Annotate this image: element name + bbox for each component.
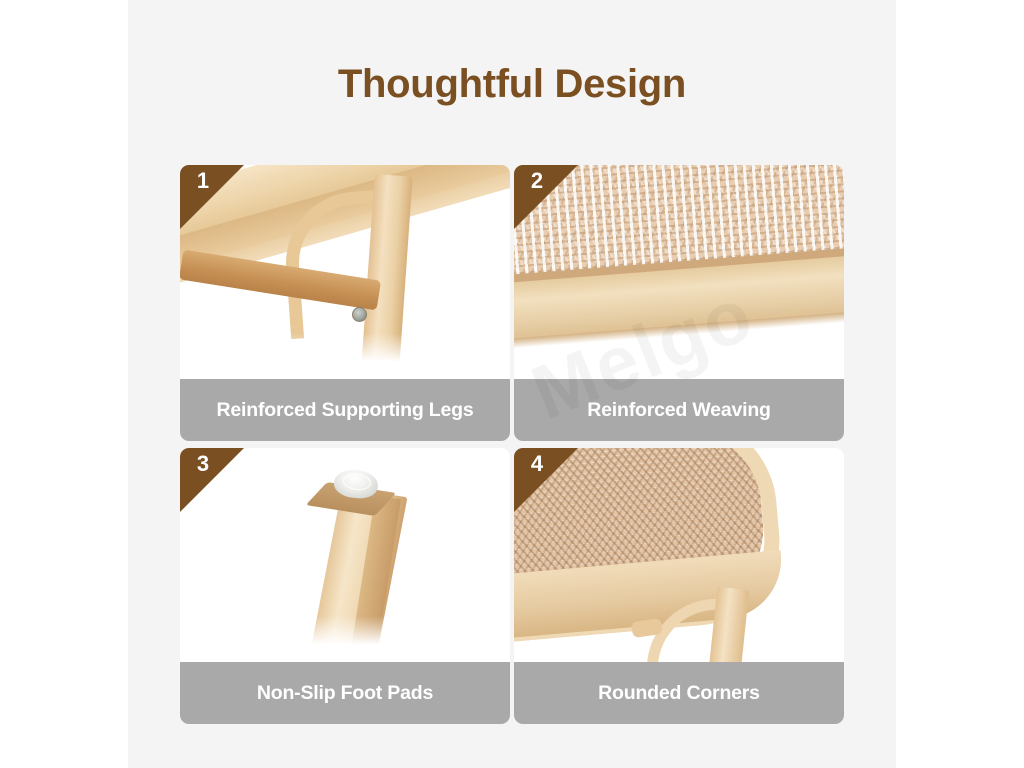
card-caption-text-2: Reinforced Weaving [587, 399, 771, 422]
card-number-label-4: 4 [524, 451, 550, 477]
feature-card-4[interactable]: 4 Rounded Corners [514, 448, 844, 724]
card-caption-bar-1: Reinforced Supporting Legs [180, 379, 510, 441]
screw-icon [352, 307, 367, 322]
page-title: Thoughtful Design [128, 62, 896, 107]
card-caption-bar-3: Non-Slip Foot Pads [180, 662, 510, 724]
card-caption-text-4: Rounded Corners [598, 682, 760, 705]
card-caption-text-1: Reinforced Supporting Legs [217, 399, 474, 422]
feature-card-1[interactable]: 1 Reinforced Supporting Legs [180, 165, 510, 441]
card-number-label-2: 2 [524, 168, 550, 194]
card-number-label-1: 1 [190, 168, 216, 194]
card-caption-bar-2: Reinforced Weaving [514, 379, 844, 441]
card-caption-text-3: Non-Slip Foot Pads [257, 682, 433, 705]
card-caption-bar-4: Rounded Corners [514, 662, 844, 724]
feature-card-2[interactable]: 2 Reinforced Weaving [514, 165, 844, 441]
image-fade-overlay [180, 616, 510, 662]
product-feature-page: Thoughtful Design 1 Reinforced Supportin… [0, 0, 1024, 768]
content-panel: Thoughtful Design 1 Reinforced Supportin… [128, 0, 896, 768]
image-fade-overlay [180, 333, 510, 379]
feature-card-3[interactable]: 3 Non-Slip Foot Pads [180, 448, 510, 724]
feature-card-grid: 1 Reinforced Supporting Legs 2 Reinforce… [180, 165, 844, 724]
card-number-label-3: 3 [190, 451, 216, 477]
